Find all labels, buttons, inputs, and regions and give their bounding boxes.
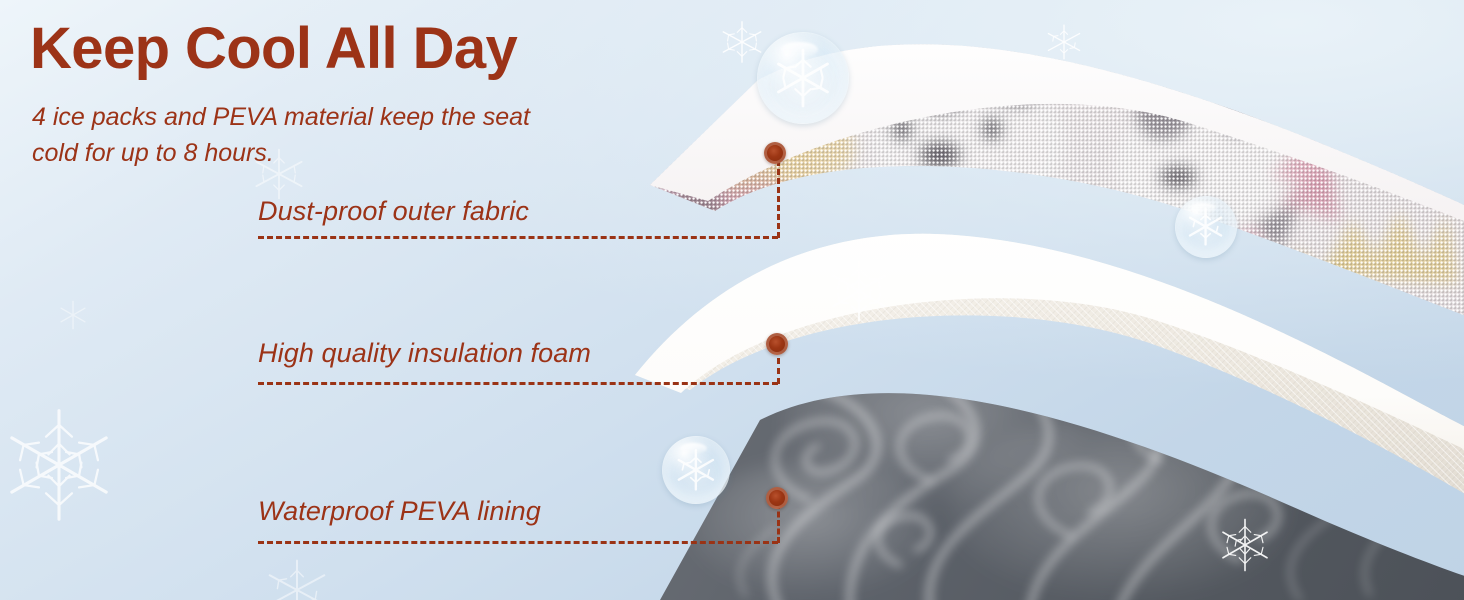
callout-label: Dust-proof outer fabric — [258, 196, 529, 227]
snowflake-icon — [718, 18, 766, 66]
page-title: Keep Cool All Day — [30, 18, 517, 79]
water-droplet-icon — [1175, 196, 1237, 258]
callout-marker-dot — [766, 333, 788, 355]
snowflake-icon — [1044, 22, 1084, 62]
water-droplet-icon — [662, 436, 730, 504]
water-droplet-icon — [757, 32, 849, 124]
callout-leader-line-horizontal — [258, 541, 778, 544]
callout-leader-line-horizontal — [258, 236, 778, 239]
callout-leader-line-vertical — [777, 503, 780, 543]
snowflake-icon — [56, 298, 90, 332]
callout-leader-line-vertical — [777, 160, 780, 238]
callout-marker-dot — [764, 142, 786, 164]
callout-label: Waterproof PEVA lining — [258, 496, 541, 527]
callout-leader-line-horizontal — [258, 382, 778, 385]
page-subtitle: 4 ice packs and PEVA material keep the s… — [32, 100, 572, 171]
snowflake-icon — [262, 555, 332, 600]
product-feature-banner: Keep Cool All Day 4 ice packs and PEVA m… — [0, 0, 1464, 600]
callout-label: High quality insulation foam — [258, 338, 591, 369]
snowflake-icon — [0, 406, 118, 524]
callout-marker-dot — [766, 487, 788, 509]
